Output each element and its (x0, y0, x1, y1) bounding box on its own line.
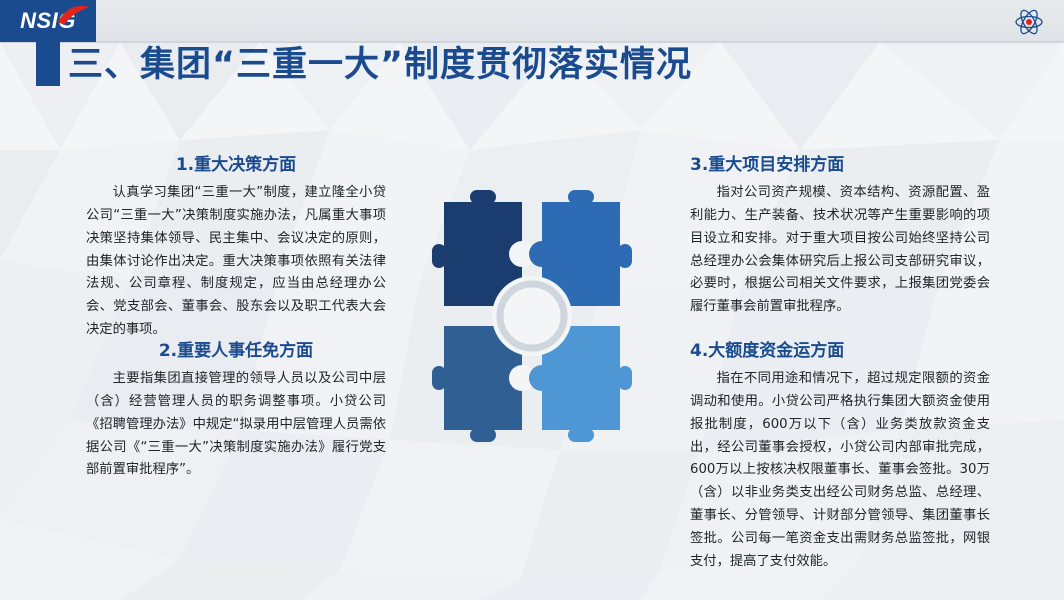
block-body: 认真学习集团“三重一大”制度，建立隆全小贷公司“三重一大”决策制度实施办法，凡属… (86, 182, 386, 342)
block-body: 指在不同用途和情况下，超过规定限额的资金调动和使用。小贷公司严格执行集团大额资金… (690, 368, 990, 574)
block-heading: 2.重要人事任免方面 (86, 336, 386, 361)
block-body: 主要指集团直接管理的领导人员以及公司中层（含）经营管理人员的职务调整事项。小贷公… (86, 368, 386, 482)
content-block-major-decision: 1.重大决策方面 认真学习集团“三重一大”制度，建立隆全小贷公司“三重一大”决策… (86, 150, 386, 342)
block-heading: 3.重大项目安排方面 (690, 150, 990, 175)
block-heading: 1.重大决策方面 (86, 150, 386, 175)
title-accent-bar (36, 34, 60, 86)
page-title: 三、集团“三重一大”制度贯彻落实情况 (68, 36, 692, 87)
block-heading: 4.大额度资金运方面 (690, 336, 990, 361)
content-block-personnel-appointment: 2.重要人事任免方面 主要指集团直接管理的领导人员以及公司中层（含）经营管理人员… (86, 336, 386, 482)
slide: NSIG 三、集团“三重一大”制度贯彻落实情况 1.重大决策方面 认真学习集团“… (0, 0, 1064, 600)
swoosh-icon (56, 4, 90, 26)
puzzle-gear-diagram (404, 188, 660, 444)
content-block-major-project: 3.重大项目安排方面 指对公司资产规模、资本结构、资源配置、盈利能力、生产装备、… (690, 150, 990, 319)
block-body: 指对公司资产规模、资本结构、资源配置、盈利能力、生产装备、技术状况等产生重要影响… (690, 182, 990, 319)
atom-icon (1014, 8, 1044, 36)
content-block-large-fund: 4.大额度资金运方面 指在不同用途和情况下，超过规定限额的资金调动和使用。小贷公… (690, 336, 990, 574)
